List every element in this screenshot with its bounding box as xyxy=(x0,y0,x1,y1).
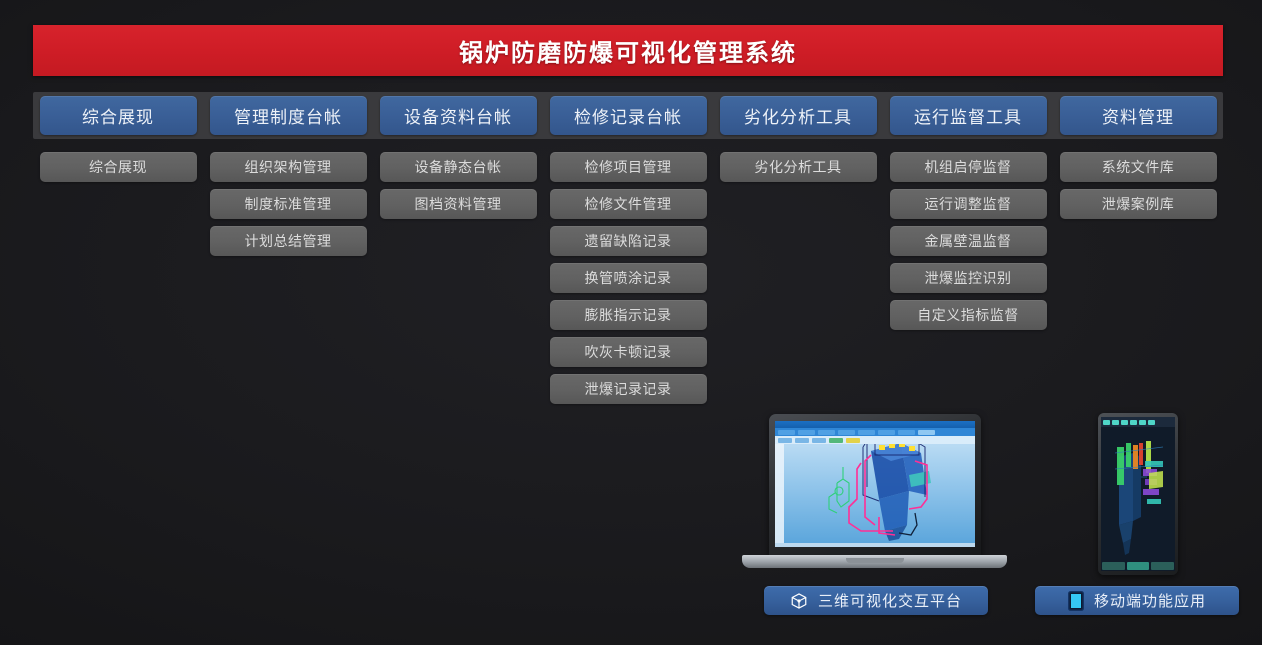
app-statusbar xyxy=(775,543,975,547)
tab-liehuafenxigongju[interactable]: 劣化分析工具 xyxy=(720,96,877,135)
submenu-column-liehuafenxigongju: 劣化分析工具 xyxy=(713,152,883,411)
submenu-item[interactable]: 自定义指标监督 xyxy=(890,300,1047,330)
submenu-column-jianxiujilutaizhang: 检修项目管理 检修文件管理 遗留缺陷记录 换管喷涂记录 膨胀指示记录 吹灰卡顿记… xyxy=(543,152,713,411)
page-title: 锅炉防磨防爆可视化管理系统 xyxy=(459,33,797,68)
laptop-mockup xyxy=(742,414,1007,574)
submenu-item[interactable]: 劣化分析工具 xyxy=(720,152,877,182)
menu-item[interactable] xyxy=(838,430,855,435)
submenu-columns: 综合展现 组织架构管理 制度标准管理 计划总结管理 设备静态台帐 图档资料管理 … xyxy=(33,152,1223,411)
menu-item-active[interactable] xyxy=(918,430,935,435)
submenu-item[interactable]: 膨胀指示记录 xyxy=(550,300,707,330)
three-d-platform-label: 三维可视化交互平台 xyxy=(818,590,962,611)
tab-guanlizhidutaizhang[interactable]: 管理制度台帐 xyxy=(210,96,367,135)
submenu-item[interactable]: 系统文件库 xyxy=(1060,152,1217,182)
phone-toolbar-button[interactable] xyxy=(1139,420,1146,425)
phone-toolbar-button[interactable] xyxy=(1112,420,1119,425)
menu-item[interactable] xyxy=(778,430,795,435)
tab-ziliaoguanli[interactable]: 资料管理 xyxy=(1060,96,1217,135)
submenu-item[interactable]: 检修文件管理 xyxy=(550,189,707,219)
submenu-item[interactable]: 制度标准管理 xyxy=(210,189,367,219)
submenu-item[interactable]: 检修项目管理 xyxy=(550,152,707,182)
submenu-item[interactable]: 图档资料管理 xyxy=(380,189,537,219)
tab-jianxiujilutaizhang[interactable]: 检修记录台帐 xyxy=(550,96,707,135)
submenu-item[interactable]: 金属壁温监督 xyxy=(890,226,1047,256)
app-titlebar xyxy=(775,421,975,428)
phone-bottom-button[interactable] xyxy=(1102,562,1125,570)
tab-cell: 设备资料台帐 xyxy=(373,96,543,135)
tab-zonghezhanxian[interactable]: 综合展现 xyxy=(40,96,197,135)
cube-icon xyxy=(790,592,808,610)
phone-bottom-button[interactable] xyxy=(1127,562,1150,570)
laptop-trackpad-notch xyxy=(846,558,904,563)
tab-cell: 管理制度台帐 xyxy=(203,96,373,135)
submenu-item[interactable]: 设备静态台帐 xyxy=(380,152,537,182)
submenu-item[interactable]: 泄爆记录记录 xyxy=(550,374,707,404)
toolbar-button[interactable] xyxy=(829,438,843,443)
submenu-column-ziliaoguanli: 系统文件库 泄爆案例库 xyxy=(1053,152,1223,411)
submenu-item[interactable]: 计划总结管理 xyxy=(210,226,367,256)
submenu-item[interactable]: 机组启停监督 xyxy=(890,152,1047,182)
laptop-screen xyxy=(775,421,975,547)
submenu-item[interactable]: 换管喷涂记录 xyxy=(550,263,707,293)
submenu-item[interactable]: 遗留缺陷记录 xyxy=(550,226,707,256)
tab-cell: 运行监督工具 xyxy=(883,96,1053,135)
toolbar-button[interactable] xyxy=(846,438,860,443)
tab-yunxingjiandugongju[interactable]: 运行监督工具 xyxy=(890,96,1047,135)
tab-cell: 检修记录台帐 xyxy=(543,96,713,135)
phone-screen xyxy=(1101,417,1175,571)
app-toolbar xyxy=(775,436,975,444)
submenu-item[interactable]: 综合展现 xyxy=(40,152,197,182)
phone-toolbar-button[interactable] xyxy=(1121,420,1128,425)
submenu-column-yunxingjiandugongju: 机组启停监督 运行调整监督 金属壁温监督 泄爆监控识别 自定义指标监督 xyxy=(883,152,1053,411)
laptop-lid xyxy=(769,414,981,556)
main-nav-tabs: 综合展现 管理制度台帐 设备资料台帐 检修记录台帐 劣化分析工具 运行监督工具 … xyxy=(33,92,1223,139)
boiler-3d-model-mobile xyxy=(1101,417,1175,571)
phone-toolbar-button[interactable] xyxy=(1148,420,1155,425)
menu-item[interactable] xyxy=(898,430,915,435)
submenu-item[interactable]: 运行调整监督 xyxy=(890,189,1047,219)
submenu-column-shebeiziliaotaizhang: 设备静态台帐 图档资料管理 xyxy=(373,152,543,411)
phone-mockup xyxy=(1098,413,1178,575)
phone-icon xyxy=(1068,591,1084,611)
submenu-item[interactable]: 吹灰卡顿记录 xyxy=(550,337,707,367)
toolbar-button[interactable] xyxy=(812,438,826,443)
laptop-base xyxy=(742,555,1007,568)
app-menubar xyxy=(775,428,975,436)
phone-toolbar-button[interactable] xyxy=(1130,420,1137,425)
tab-cell: 劣化分析工具 xyxy=(713,96,883,135)
phone-app-bottombar xyxy=(1101,561,1175,571)
page-title-banner: 锅炉防磨防爆可视化管理系统 xyxy=(33,25,1223,76)
menu-item[interactable] xyxy=(798,430,815,435)
tab-shebeiziliaotaizhang[interactable]: 设备资料台帐 xyxy=(380,96,537,135)
toolbar-button[interactable] xyxy=(778,438,792,443)
submenu-item[interactable]: 泄爆案例库 xyxy=(1060,189,1217,219)
three-d-platform-button[interactable]: 三维可视化交互平台 xyxy=(764,586,988,615)
submenu-column-zonghezhanxian: 综合展现 xyxy=(33,152,203,411)
toolbar-button[interactable] xyxy=(795,438,809,443)
menu-item[interactable] xyxy=(878,430,895,435)
phone-app-topbar xyxy=(1101,417,1175,427)
tab-cell: 资料管理 xyxy=(1053,96,1223,135)
tab-cell: 综合展现 xyxy=(33,96,203,135)
app-sidebar-strip xyxy=(775,444,784,543)
menu-item[interactable] xyxy=(858,430,875,435)
phone-toolbar-button[interactable] xyxy=(1103,420,1110,425)
submenu-column-guanlizhidutaizhang: 组织架构管理 制度标准管理 计划总结管理 xyxy=(203,152,373,411)
phone-bottom-button[interactable] xyxy=(1151,562,1174,570)
menu-item[interactable] xyxy=(818,430,835,435)
application-root: 锅炉防磨防爆可视化管理系统 综合展现 管理制度台帐 设备资料台帐 检修记录台帐 … xyxy=(0,0,1262,645)
submenu-item[interactable]: 组织架构管理 xyxy=(210,152,367,182)
mobile-app-button[interactable]: 移动端功能应用 xyxy=(1035,586,1239,615)
submenu-item[interactable]: 泄爆监控识别 xyxy=(890,263,1047,293)
mobile-app-label: 移动端功能应用 xyxy=(1094,590,1206,611)
